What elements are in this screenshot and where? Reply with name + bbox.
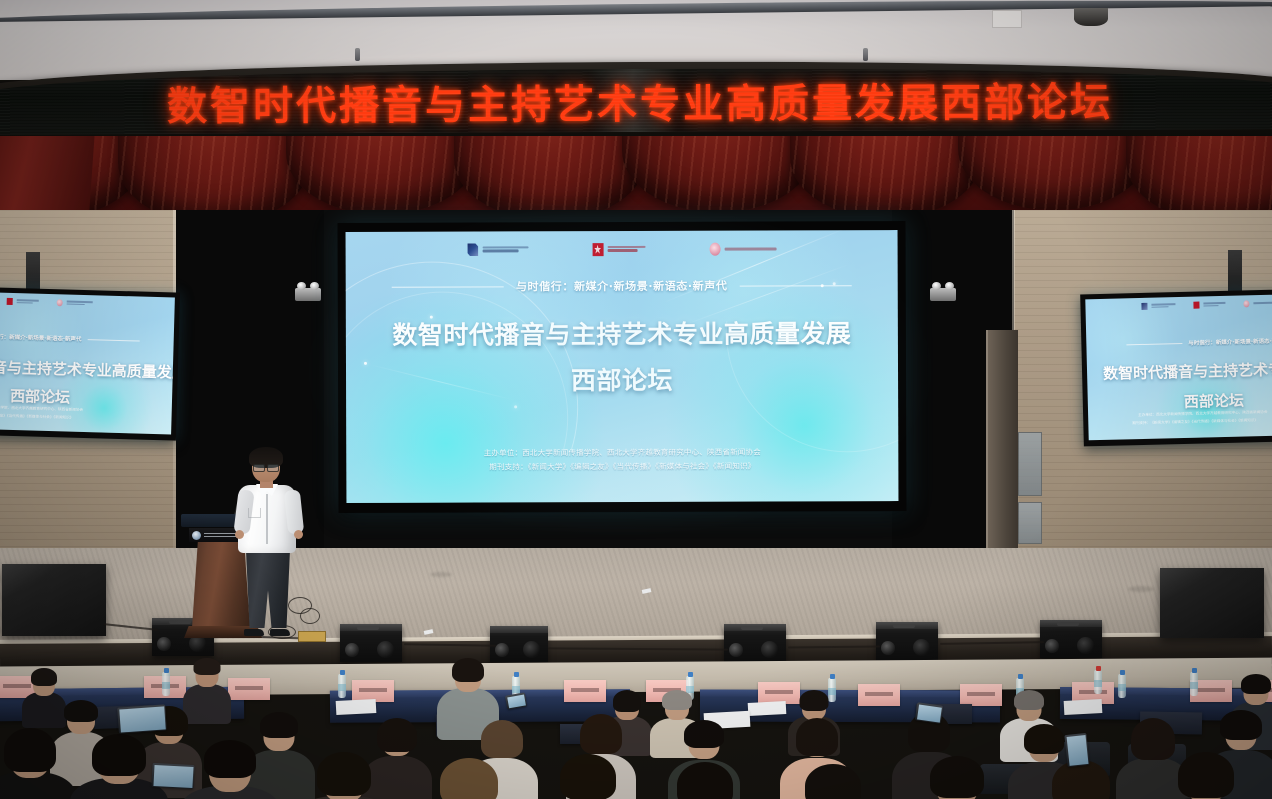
bottle-cap (1192, 668, 1197, 673)
audience-name-card (960, 684, 1002, 706)
person-hair (440, 758, 498, 799)
logo-mark-seal-icon (57, 299, 63, 306)
slide-title-line2: 西部论坛 (346, 362, 898, 400)
bottle-cap (830, 674, 835, 679)
logo-nwu-journalism (467, 243, 528, 256)
person-hair (1024, 724, 1064, 754)
glasses-icon (253, 464, 279, 470)
right-monitor-logos (1141, 299, 1272, 310)
wedge-handle (357, 626, 379, 630)
logo-mark-navy-icon (1141, 302, 1147, 309)
wedge-driver-icon (523, 641, 540, 658)
bottle-label (1190, 682, 1198, 689)
water-bottle (1094, 670, 1102, 694)
left-side-monitor: 与时偕行：新媒介·新场景·新语态·新声代 数智时代播音与主持艺术专业高质量发展 … (0, 287, 180, 440)
led-panel: 数智时代播音与主持艺术专业高质量发展西部论坛 (0, 66, 1272, 135)
person-hair (31, 668, 57, 686)
slide-footer-line2: 期刊支持：《新闻大学》《编辑之友》《当代传播》《新媒体与社会》《新闻知识》 (346, 459, 898, 475)
left-monitor-title-line1: 数智时代播音与主持艺术专业高质量发展 (0, 354, 175, 383)
audience-person-front (300, 756, 388, 799)
audience-name-card (858, 684, 900, 706)
speaker-trousers (246, 550, 290, 628)
speaker-shirt-pocket (248, 508, 261, 518)
audience-name-card (564, 680, 606, 702)
person-hair (64, 700, 98, 722)
stage-floor-plate (298, 631, 326, 642)
wedge-driver-icon (157, 637, 171, 651)
slide-surface: 与时偕行：新媒介·新场景·新语态·新声代 数智时代播音与主持艺术专业高质量发展 … (346, 230, 899, 503)
desk-paper (336, 699, 377, 715)
person-hair (317, 752, 371, 796)
bottle-cap (1096, 666, 1101, 671)
decor-spark (514, 405, 517, 408)
audience-person-front (1160, 756, 1252, 799)
bottle-cap (688, 672, 693, 677)
person-hair (4, 728, 56, 772)
logo-caption (724, 247, 776, 250)
wedge-handle (1057, 622, 1079, 626)
person-hair (796, 718, 838, 756)
stage-monitor-wedge (490, 626, 548, 662)
audience-phone (1064, 733, 1089, 767)
wedge-driver-icon (377, 641, 394, 658)
audience-person-front (912, 760, 1002, 799)
speaker-shoe (244, 629, 264, 636)
person-hair (580, 714, 622, 754)
subwoofer-right (1160, 568, 1264, 638)
logo-shaanxi-press-assoc (709, 242, 776, 255)
wedge-handle (741, 626, 763, 630)
right-monitor-mount (1228, 250, 1242, 294)
desk-paper (748, 701, 787, 716)
slide-subtitle-row: 与时偕行：新媒介·新场景·新语态·新声代 (346, 277, 898, 295)
bottle-cap (1018, 674, 1023, 679)
left-monitor-subtitle: 与时偕行：新媒介·新场景·新语态·新声代 (0, 332, 140, 344)
person-hair (1241, 674, 1271, 694)
ceiling-fixture-icon (863, 48, 868, 61)
person-hair (662, 690, 692, 710)
speaker-person (236, 450, 302, 632)
wedge-driver-icon (345, 643, 359, 657)
university-emblem-icon (192, 531, 201, 540)
emergency-light-icon (295, 288, 321, 301)
person-hair (260, 712, 298, 738)
rule (1126, 342, 1182, 344)
slide-title: 数智时代播音与主持艺术专业高质量发展 西部论坛 (346, 316, 898, 400)
person-hair (481, 720, 523, 758)
ceiling-fixture-icon (355, 48, 360, 61)
audience-person-front (76, 738, 162, 799)
logo-caption (17, 299, 39, 304)
bottle-label (512, 686, 520, 693)
led-banner-text: 数智时代播音与主持艺术专业高质量发展西部论坛 (0, 69, 1272, 133)
audience-phone (915, 702, 943, 723)
desk-top (700, 689, 1000, 697)
speaker-arm-right (284, 489, 305, 534)
right-monitor-title-line1: 数智时代播音与主持艺术专业高质量发展 (1103, 356, 1272, 384)
wedge-driver-icon (1045, 639, 1059, 653)
door-window (1018, 432, 1042, 496)
water-bottle (1118, 674, 1126, 698)
logo-caption (482, 246, 528, 252)
logo-mark-navy-icon (467, 243, 478, 256)
left-monitor-footer-line1: 主办单位：西北大学新闻传播学院、西北大学齐越教育研究中心、陕西省新闻协会 (0, 403, 83, 413)
person-hair (613, 690, 641, 712)
water-bottle (338, 674, 346, 698)
person-hair (800, 690, 829, 711)
floor-scuff (1128, 586, 1154, 592)
person-hair (930, 756, 984, 798)
right-monitor-footer-line2: 期刊支持：《新闻大学》《编辑之友》《当代传播》《新媒体与社会》《新闻知识》 (1132, 417, 1258, 427)
water-bottle (162, 672, 170, 696)
person-hair (1220, 710, 1262, 740)
stage-monitor-wedge (1040, 620, 1102, 658)
bottle-label (338, 684, 346, 691)
slide-logo-row (346, 239, 898, 259)
wedge-driver-icon (913, 639, 930, 656)
logo-qiyue-center (592, 242, 645, 255)
floor-scuff (430, 572, 452, 577)
bottle-cap (514, 672, 519, 677)
person-hair (1131, 718, 1175, 760)
audience-person-front (544, 758, 632, 799)
wedge-driver-icon (761, 641, 778, 658)
bottle-cap (1120, 670, 1125, 675)
stage-monitor-wedge (724, 624, 786, 662)
wedge-driver-icon (729, 643, 743, 657)
logo-mark-seal-icon (1243, 300, 1249, 307)
audience-name-card (228, 678, 270, 700)
person-hair (377, 718, 417, 752)
stage-monitor-wedge (340, 624, 402, 662)
left-monitor-subtitle-text: 与时偕行：新媒介·新场景·新语态·新声代 (0, 332, 82, 343)
audience-phone (117, 704, 167, 733)
ceiling-vent (992, 10, 1022, 28)
right-monitor-subtitle: 与时偕行：新媒介·新场景·新语态·新声代 (1126, 336, 1272, 348)
person-hair (1178, 752, 1234, 798)
logo-mark-seal-icon (709, 242, 720, 255)
wedge-driver-icon (1077, 637, 1094, 654)
person-hair (560, 754, 616, 799)
bottle-label (162, 682, 170, 689)
bottle-label (1094, 680, 1102, 687)
person-hair (677, 762, 733, 799)
slide-subtitle: 与时偕行：新媒介·新场景·新语态·新声代 (516, 278, 728, 295)
stage-monitor-wedge (876, 622, 938, 660)
right-monitor-panel: 与时偕行：新媒介·新场景·新语态·新声代 数智时代播音与主持艺术专业高质量发展 … (1085, 295, 1272, 441)
right-side-monitor: 与时偕行：新媒介·新场景·新语态·新声代 数智时代播音与主持艺术专业高质量发展 … (1080, 290, 1272, 447)
subwoofer-left (2, 564, 106, 636)
wedge-driver-icon (881, 641, 895, 655)
audience-person-front (788, 768, 878, 799)
speaker-shoe (270, 629, 290, 636)
logo-caption (1203, 302, 1225, 307)
emergency-light-icon (930, 288, 956, 301)
led-banner: 数智时代播音与主持艺术专业高质量发展西部论坛 (0, 59, 1272, 143)
rule-right (739, 285, 851, 286)
logo-mark-red-icon (592, 243, 603, 256)
auditorium-photo: 数智时代播音与主持艺术专业高质量发展西部论坛 (0, 0, 1272, 799)
person-hair (684, 720, 724, 748)
ceiling-speaker-icon (1074, 8, 1108, 26)
slide-title-line1: 数智时代播音与主持艺术专业高质量发展 (346, 316, 898, 354)
bottle-cap (164, 668, 169, 673)
speaker-shirt-placket (266, 494, 268, 544)
desk-paper (1064, 699, 1103, 715)
logo-caption (1253, 302, 1272, 304)
audience-person-front (0, 732, 70, 799)
person-hair (92, 734, 146, 776)
person-hair (1014, 690, 1044, 710)
bottle-cap (340, 670, 345, 675)
left-monitor-panel: 与时偕行：新媒介·新场景·新语态·新声代 数智时代播音与主持艺术专业高质量发展 … (0, 293, 175, 435)
person-hair (1052, 760, 1110, 799)
left-monitor-logos (7, 297, 93, 307)
logo-caption (1151, 303, 1175, 308)
bottle-label (1118, 684, 1126, 691)
slide-footer: 主办单位：西北大学新闻传播学院、西北大学齐越教育研究中心、陕西省新闻协会 期刊支… (346, 445, 898, 475)
person-hair (204, 740, 256, 778)
person-hair (452, 658, 484, 682)
stage-cable-loop (300, 608, 320, 624)
person-hair (194, 658, 221, 675)
audience-person-front (186, 744, 274, 799)
audience-person-front (660, 766, 750, 799)
wedge-driver-icon (495, 643, 509, 657)
main-projection-screen: 与时偕行：新媒介·新场景·新语态·新声代 数智时代播音与主持艺术专业高质量发展 … (337, 221, 906, 513)
speaker-hand (235, 530, 244, 539)
rule-left (392, 286, 504, 287)
logo-mark-red-icon (1193, 301, 1199, 308)
wedge-handle (893, 624, 915, 628)
audience-person-front (424, 762, 514, 799)
wedge-top (490, 626, 548, 633)
door-window (1018, 502, 1042, 544)
audience-phone (151, 763, 194, 789)
audience-person-front (1036, 764, 1126, 799)
logo-caption (607, 246, 645, 252)
person-hair (805, 764, 861, 799)
rule (87, 339, 139, 341)
speaker-hand (294, 530, 303, 539)
logo-mark-red-icon (7, 297, 13, 304)
logo-caption (67, 300, 93, 305)
water-bottle (1190, 672, 1198, 696)
right-monitor-subtitle-text: 与时偕行：新媒介·新场景·新语态·新声代 (1188, 336, 1272, 346)
